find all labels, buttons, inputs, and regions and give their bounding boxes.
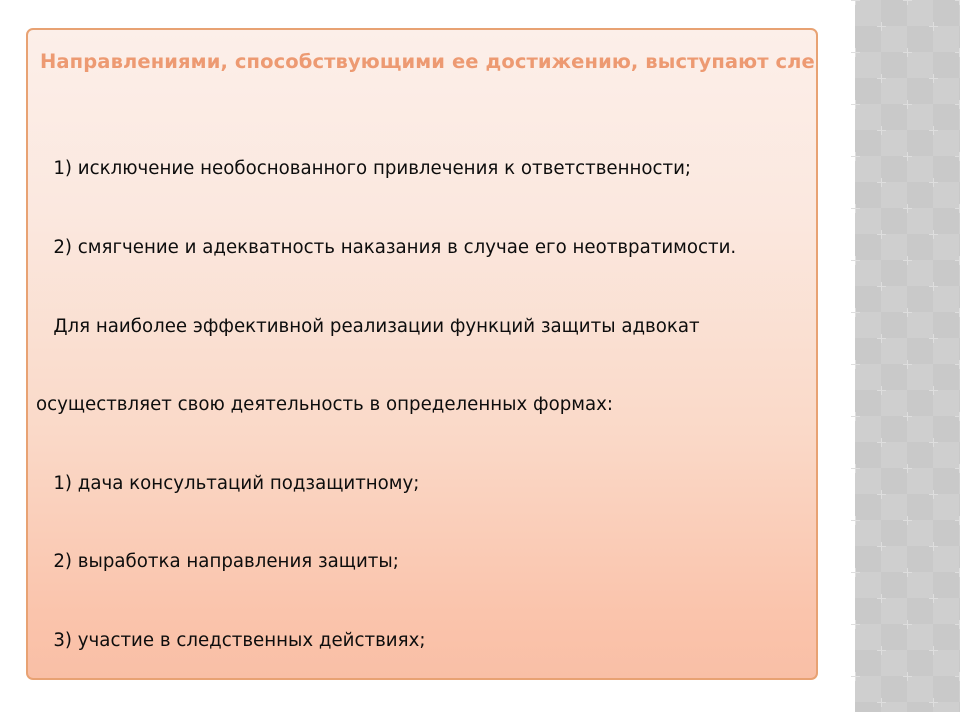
lattice-mark <box>929 650 938 651</box>
lattice-mark <box>851 676 860 677</box>
lattice-mark <box>929 338 938 339</box>
lattice-mark <box>929 130 938 131</box>
text-line: 1) дача консультаций подзащитному; <box>36 471 810 497</box>
lattice-mark <box>877 546 886 547</box>
text-line: 3) участие в следственных действиях; <box>36 628 810 654</box>
lattice-mark <box>955 364 960 365</box>
lattice-mark <box>955 312 960 313</box>
lattice-mark <box>851 156 860 157</box>
lattice-mark <box>877 130 886 131</box>
lattice-mark <box>877 182 886 183</box>
lattice-mark <box>877 26 886 27</box>
lattice-mark <box>929 702 938 703</box>
lattice-mark <box>903 208 912 209</box>
lattice-mark <box>877 234 886 235</box>
lattice-mark <box>929 442 938 443</box>
lattice-mark <box>929 546 938 547</box>
lattice-mark <box>851 624 860 625</box>
text-line: 2) смягчение и адекватность наказания в … <box>36 235 810 261</box>
lattice-mark <box>877 390 886 391</box>
lattice-mark <box>851 208 860 209</box>
lattice-mark <box>955 468 960 469</box>
lattice-mark <box>877 650 886 651</box>
lattice-mark <box>877 598 886 599</box>
lattice-mark <box>929 26 938 27</box>
decorative-side-panel <box>855 0 960 712</box>
lattice-mark <box>851 52 860 53</box>
lattice-mark <box>851 364 860 365</box>
lattice-mark <box>929 286 938 287</box>
text-line: 2) выработка направления защиты; <box>36 549 810 575</box>
lattice-mark <box>955 156 960 157</box>
lattice-mark <box>877 494 886 495</box>
lattice-mark <box>903 520 912 521</box>
lattice-mark <box>929 182 938 183</box>
lattice-mark <box>955 260 960 261</box>
lattice-mark <box>877 338 886 339</box>
lattice-mark <box>929 390 938 391</box>
lattice-mark <box>877 702 886 703</box>
lattice-mark <box>903 676 912 677</box>
lattice-mark <box>877 286 886 287</box>
lattice-mark <box>851 104 860 105</box>
lattice-mark <box>903 156 912 157</box>
lattice-mark <box>929 598 938 599</box>
lattice-mark <box>851 312 860 313</box>
lattice-mark <box>877 442 886 443</box>
lattice-mark <box>955 624 960 625</box>
lattice-mark <box>903 260 912 261</box>
lattice-mark <box>851 416 860 417</box>
text-line: осуществляет свою деятельность в определ… <box>36 392 810 418</box>
lattice-mark <box>929 234 938 235</box>
lattice-mark <box>955 676 960 677</box>
slide-content-box: Направлениями, способствующими ее достиж… <box>26 28 818 680</box>
lattice-mark <box>903 468 912 469</box>
text-line: Для наиболее эффективной реализации функ… <box>36 314 810 340</box>
lattice-mark <box>903 104 912 105</box>
lattice-mark <box>851 260 860 261</box>
lattice-mark <box>955 208 960 209</box>
lattice-mark <box>903 312 912 313</box>
lattice-mark <box>903 52 912 53</box>
lattice-mark <box>955 0 960 1</box>
lattice-mark <box>955 52 960 53</box>
page-title: Направлениями, способствующими ее достиж… <box>40 50 818 73</box>
lattice-mark <box>851 468 860 469</box>
lattice-mark <box>851 520 860 521</box>
lattice-mark <box>903 572 912 573</box>
lattice-mark <box>955 520 960 521</box>
lattice-mark <box>851 572 860 573</box>
lattice-mark <box>955 416 960 417</box>
lattice-mark <box>955 572 960 573</box>
lattice-mark <box>929 78 938 79</box>
lattice-mark <box>877 78 886 79</box>
body-text-block: 1) исключение необоснованного привлечени… <box>36 104 810 680</box>
lattice-mark <box>903 416 912 417</box>
text-line: 1) исключение необоснованного привлечени… <box>36 156 810 182</box>
lattice-mark <box>903 624 912 625</box>
lattice-mark <box>851 0 860 1</box>
lattice-mark <box>903 364 912 365</box>
lattice-mark <box>929 494 938 495</box>
lattice-mark <box>955 104 960 105</box>
lattice-mark <box>903 0 912 1</box>
